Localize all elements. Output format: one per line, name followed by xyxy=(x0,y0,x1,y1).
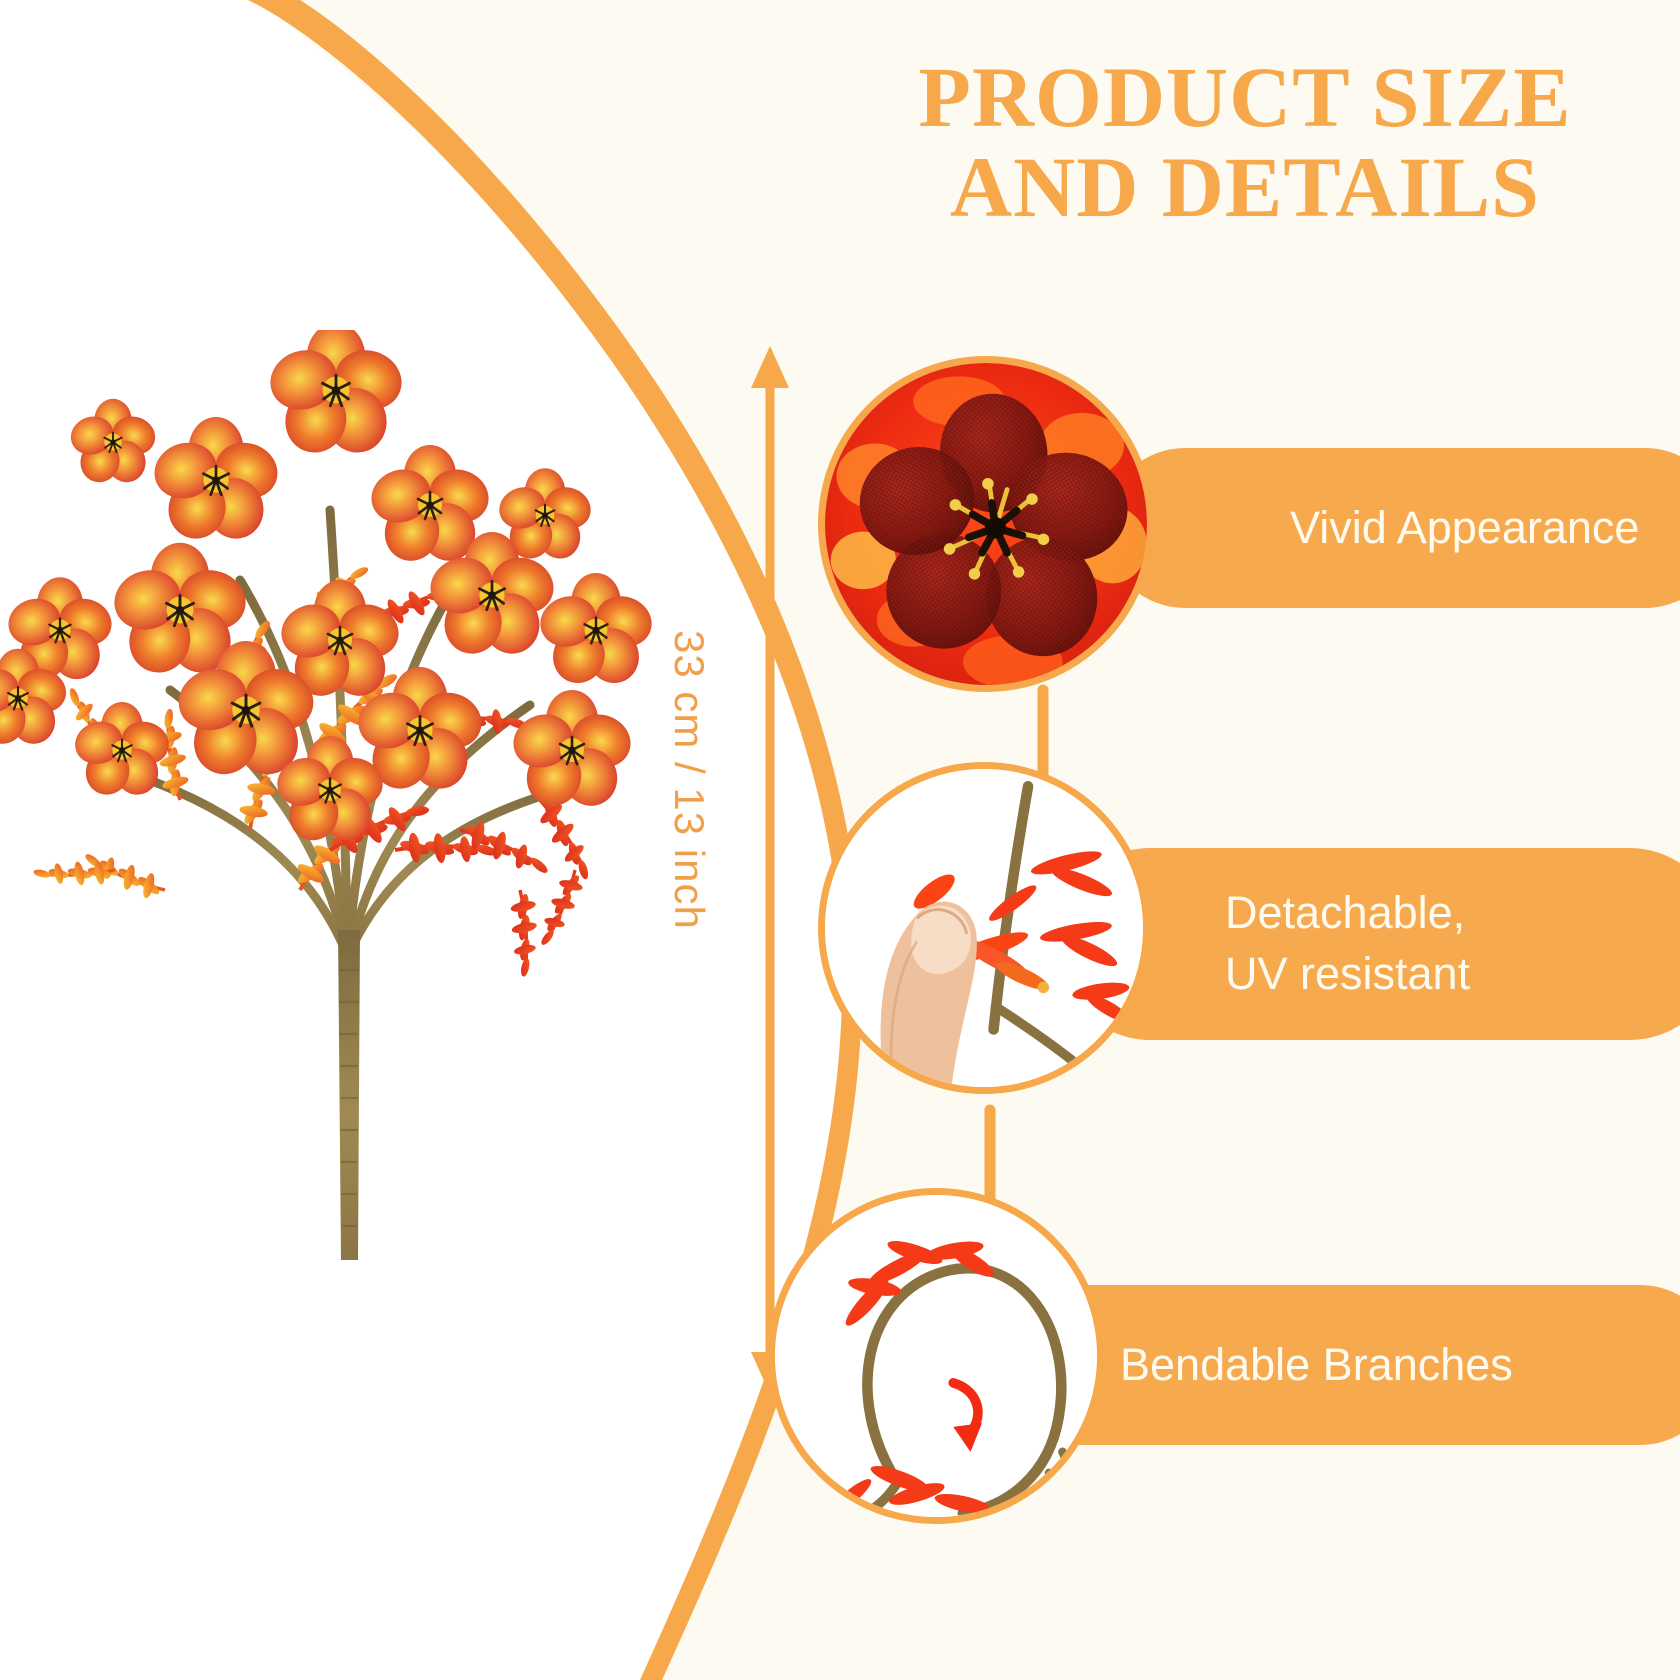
infographic-canvas: PRODUCT SIZE AND DETAILS xyxy=(0,0,1680,1680)
bent-branch-photo xyxy=(775,1195,1097,1517)
product-image xyxy=(0,330,700,1330)
page-title: PRODUCT SIZE AND DETAILS xyxy=(830,52,1660,233)
detaching-leaf-photo xyxy=(825,769,1143,1087)
feature-photo-detachable-uv-resistant[interactable] xyxy=(818,762,1150,1094)
dimension-label: 33 cm / 13 inch xyxy=(665,630,713,1050)
feature-label-detachable-uv-resistant: Detachable, UV resistant xyxy=(1225,883,1470,1005)
stem-handle xyxy=(338,930,360,1260)
closeup-flower-photo xyxy=(825,363,1147,685)
feature-photo-bendable-branches[interactable] xyxy=(768,1188,1104,1524)
arrow-head-top xyxy=(751,346,789,388)
blossoms xyxy=(0,330,659,847)
feature-pill-detachable-uv-resistant[interactable]: Detachable, UV resistant xyxy=(1060,848,1680,1040)
feature-label-bendable-branches: Bendable Branches xyxy=(1120,1335,1513,1396)
flower-bush-illustration xyxy=(0,330,700,1330)
feature-label-vivid-appearance: Vivid Appearance xyxy=(1290,498,1639,559)
feature-photo-vivid-appearance[interactable] xyxy=(818,356,1154,692)
feature-pill-vivid-appearance[interactable]: Vivid Appearance xyxy=(1105,448,1680,608)
